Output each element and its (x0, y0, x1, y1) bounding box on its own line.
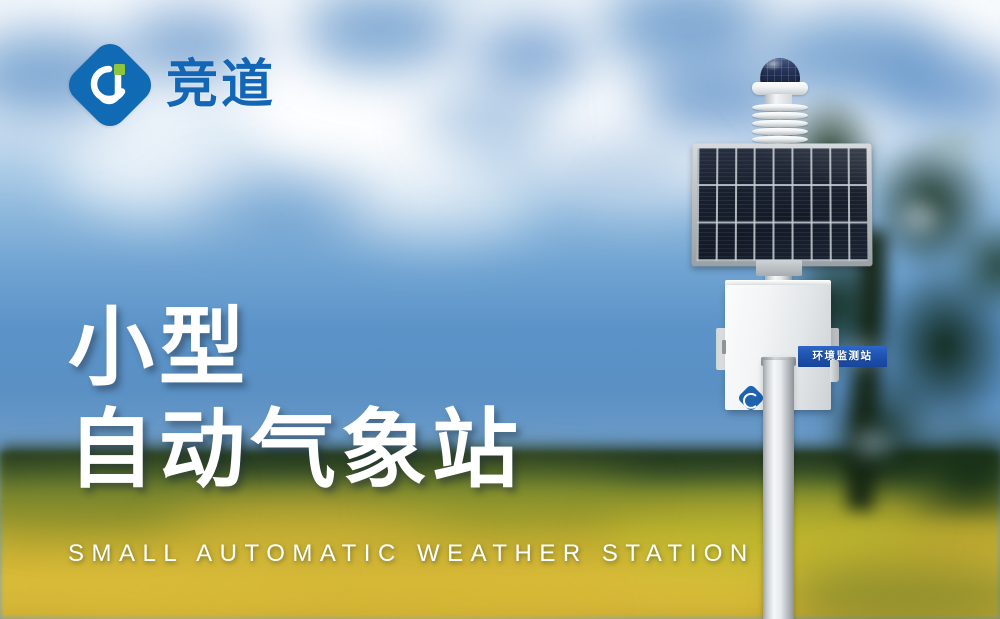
louver-fin (752, 104, 808, 111)
louver-fin (752, 112, 808, 119)
louver-fin (752, 128, 808, 135)
cloud-shadow-blob (420, 90, 550, 150)
brand-logo-text: 竞道 (166, 59, 276, 111)
louver-fin (752, 136, 808, 143)
enclosure-vent (722, 340, 726, 354)
brand-logo[interactable]: 竞道 (68, 43, 276, 127)
enclosure-banner: 环境监测站 (798, 346, 887, 367)
logo-glyph-svg (68, 43, 152, 127)
product-hero-banner: 环境监测站 竞道 竞道 小型 自动气象站 SMALL AUTOMATIC (0, 0, 1000, 619)
louver-fin (752, 120, 808, 127)
headline-line-2: 自动气象站 (68, 407, 523, 493)
support-mast-lower (763, 360, 794, 619)
enclosure-banner-label: 环境监测站 (813, 351, 873, 362)
tree-foliage-gap (932, 130, 978, 160)
cloud-shadow-blob (470, 20, 590, 90)
headline-block: 小型 自动气象站 (68, 305, 523, 493)
solar-panel-mount (756, 260, 802, 276)
cloud-shadow-blob (180, 170, 380, 240)
enclosure-latch (830, 360, 839, 382)
solar-panel (691, 143, 872, 266)
field-texture-blob (40, 560, 320, 619)
jingdao-diamond-logo-icon (68, 43, 152, 127)
jingdao-diamond-logo-icon (737, 384, 765, 412)
headline-line-1: 小型 (68, 305, 523, 391)
solar-panel-cells (697, 148, 868, 261)
solar-panel-frame (691, 143, 872, 266)
sensor-dome-grid (760, 58, 800, 84)
weather-station-assembly: 环境监测站 竞道 (660, 30, 920, 619)
headline-subtitle: SMALL AUTOMATIC WEATHER STATION (68, 540, 755, 568)
